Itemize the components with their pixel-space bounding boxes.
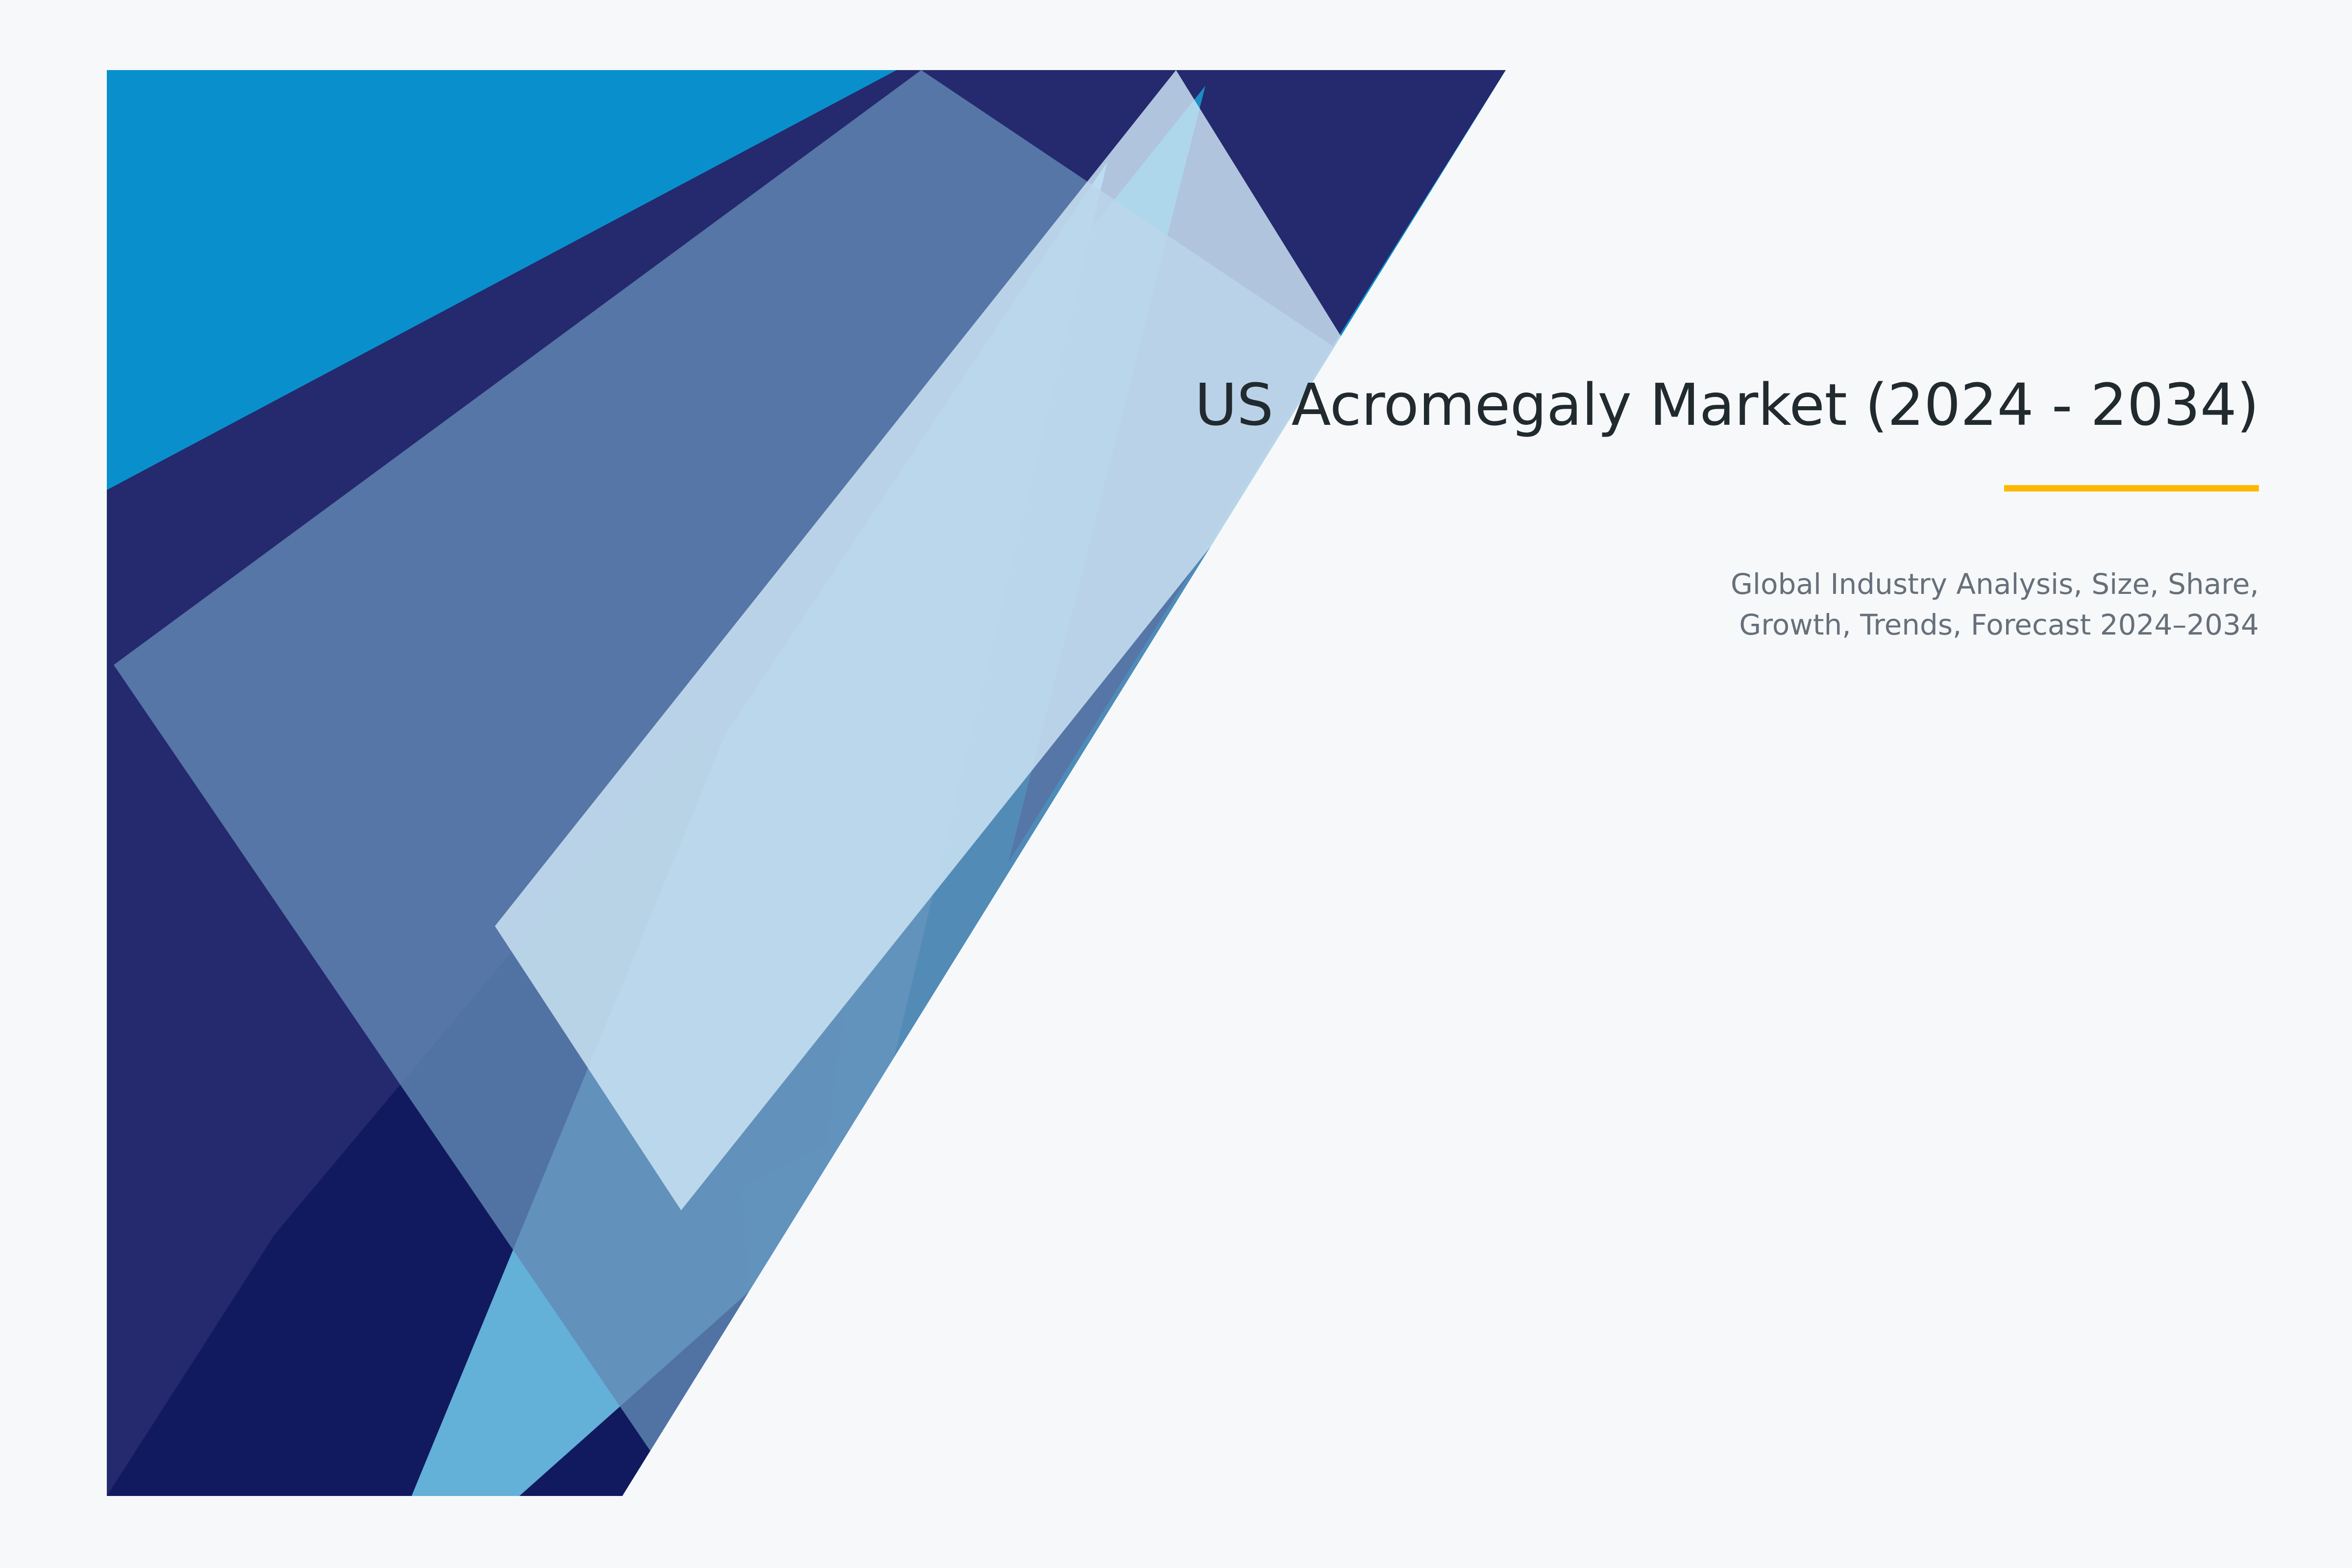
abstract-polygon-graphic (0, 0, 2352, 1568)
accent-rule-container (833, 485, 2259, 491)
title-text-block: US Acromegaly Market (2024 - 2034) Globa… (833, 372, 2259, 645)
page-title: US Acromegaly Market (2024 - 2034) (833, 372, 2259, 437)
page-subtitle: Global Industry Analysis, Size, Share, G… (833, 564, 2259, 645)
slide-root: US Acromegaly Market (2024 - 2034) Globa… (0, 0, 2352, 1568)
accent-rule (2004, 485, 2259, 491)
